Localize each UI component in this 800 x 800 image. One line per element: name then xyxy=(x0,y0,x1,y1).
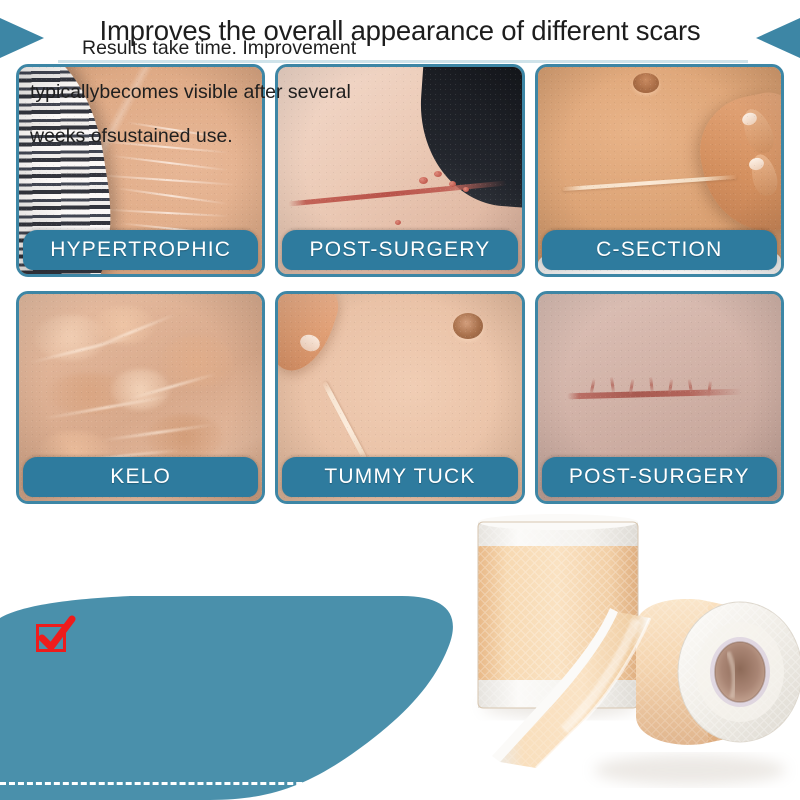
note-line-1: Results take time. Improvement xyxy=(82,37,356,59)
triangle-left-icon xyxy=(756,18,800,58)
card-label-text: C-SECTION xyxy=(596,238,722,262)
card-label-text: HYPERTROPHIC xyxy=(50,238,231,262)
card-label-text: POST-SURGERY xyxy=(310,238,491,262)
card-label-banner: C-SECTION xyxy=(542,230,777,270)
note-line-3: weeks ofsustained use. xyxy=(30,125,233,147)
tummy-tuck-scar xyxy=(321,381,366,460)
navel xyxy=(453,313,483,339)
product-image xyxy=(440,500,800,800)
card-label-text: POST-SURGERY xyxy=(569,465,750,489)
infographic-page: Improves the overall appearance of diffe… xyxy=(0,0,800,800)
scar-card-post-surgery-suture: POST-SURGERY xyxy=(535,291,784,504)
card-label-banner: POST-SURGERY xyxy=(542,457,777,497)
note-text: Results take time. Improvement typically… xyxy=(30,26,420,158)
card-label-text: KELO xyxy=(110,465,171,489)
navel xyxy=(633,73,659,93)
note-line-2: typicallybecomes visible after several xyxy=(30,81,351,103)
card-label-banner: POST-SURGERY xyxy=(282,230,517,270)
scar-card-tummy-tuck: TUMMY TUCK xyxy=(275,291,524,504)
scar-card-c-section: C-SECTION xyxy=(535,64,784,277)
card-label-banner: TUMMY TUCK xyxy=(282,457,517,497)
card-label-text: TUMMY TUCK xyxy=(324,465,475,489)
card-label-banner: HYPERTROPHIC xyxy=(23,230,258,270)
dashed-divider xyxy=(0,782,392,785)
scar-card-keloid: KELO xyxy=(16,291,265,504)
card-label-banner: KELO xyxy=(23,457,258,497)
check-mark-icon xyxy=(34,612,78,661)
